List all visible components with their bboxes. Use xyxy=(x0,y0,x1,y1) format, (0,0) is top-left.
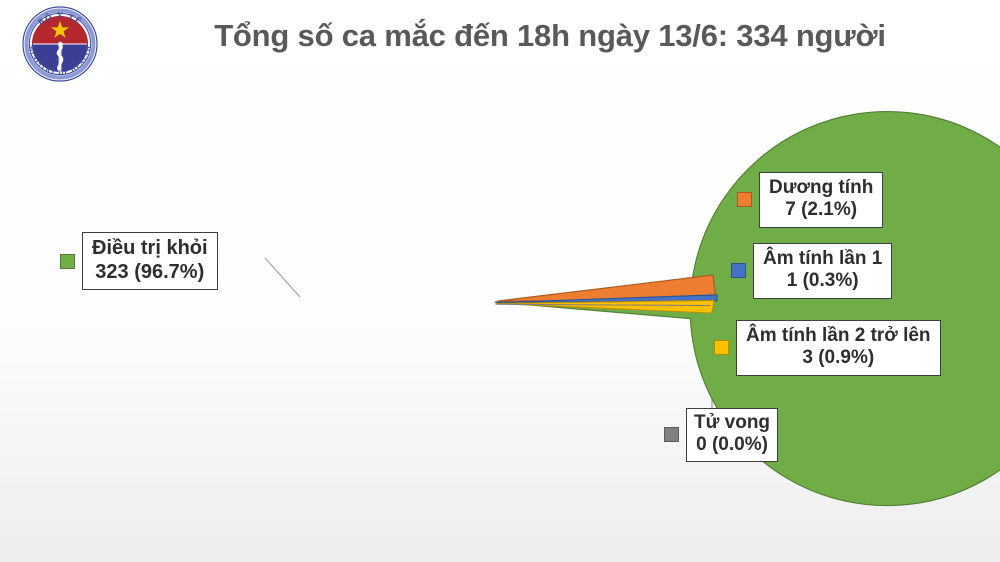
callout-positive-value: 7 (2.1%) xyxy=(769,199,873,221)
callout-negative-second-plus-box: Âm tính lần 2 trở lên 3 (0.9%) xyxy=(736,320,941,376)
callout-deaths[interactable]: Tử vong 0 (0.0%) xyxy=(664,408,778,462)
slide-canvas: BỘ Y TẾ MINISTRY OF HEALTH Tổng số ca mắ… xyxy=(0,0,1000,562)
callout-negative-first[interactable]: Âm tính lần 1 1 (0.3%) xyxy=(731,243,892,299)
callout-positive[interactable]: Dương tính 7 (2.1%) xyxy=(737,172,883,228)
legend-swatch-positive xyxy=(737,192,752,207)
legend-swatch-negative-first xyxy=(731,263,746,278)
legend-swatch-deaths xyxy=(664,427,679,442)
legend-swatch-recovered xyxy=(60,254,75,269)
callout-recovered-value: 323 (96.7%) xyxy=(92,261,208,285)
callout-negative-second-plus-label: Âm tính lần 2 trở lên xyxy=(746,325,931,346)
callout-deaths-value: 0 (0.0%) xyxy=(694,434,770,456)
callout-negative-second-plus-value: 3 (0.9%) xyxy=(746,347,931,369)
callout-deaths-box: Tử vong 0 (0.0%) xyxy=(686,408,778,462)
callout-negative-first-value: 1 (0.3%) xyxy=(763,270,882,292)
callout-recovered[interactable]: Điều trị khỏi 323 (96.7%) xyxy=(60,232,218,290)
callout-recovered-box: Điều trị khỏi 323 (96.7%) xyxy=(82,232,218,290)
callout-negative-first-box: Âm tính lần 1 1 (0.3%) xyxy=(753,243,892,299)
callout-recovered-label: Điều trị khỏi xyxy=(92,237,208,259)
legend-swatch-negative-second-plus xyxy=(714,340,729,355)
callout-positive-box: Dương tính 7 (2.1%) xyxy=(759,172,883,228)
callout-positive-label: Dương tính xyxy=(769,177,873,198)
callout-negative-second-plus[interactable]: Âm tính lần 2 trở lên 3 (0.9%) xyxy=(714,320,941,376)
callout-deaths-label: Tử vong xyxy=(694,412,770,433)
leader-line-recovered xyxy=(265,258,300,297)
callout-negative-first-label: Âm tính lần 1 xyxy=(763,248,882,269)
